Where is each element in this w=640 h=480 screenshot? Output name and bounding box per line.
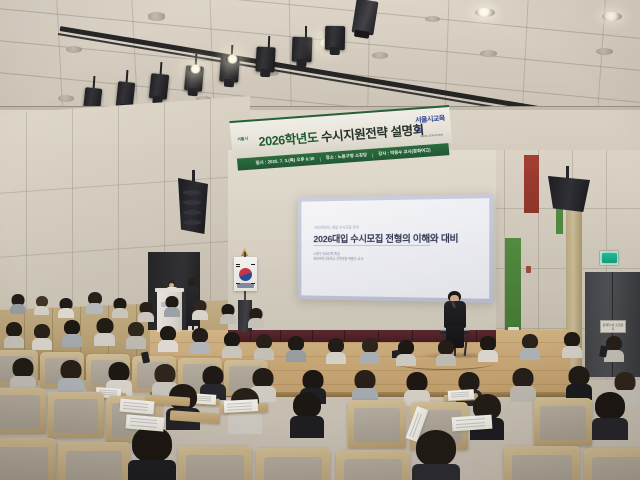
audience-person: [126, 322, 146, 349]
auditorium-photo: 관계자 외 출입금지 서울시 2026학년도 수시지원전략 설명회 서울시교육청…: [0, 0, 640, 480]
taegeuk-symbol: [239, 268, 252, 281]
slide-title: 2026대입 수시모집 전형의 이해와 대비: [313, 231, 458, 246]
ceiling-downlight: [66, 46, 82, 53]
ceiling-downlight: [58, 95, 74, 102]
slide-body-line: 창화여자고등학교 진학부장 박용수 교사: [313, 257, 363, 262]
ceiling-downlight: [475, 8, 495, 17]
pa-speaker-left: [178, 178, 208, 234]
audience-person: [94, 318, 115, 346]
audience-person: [164, 296, 180, 317]
banner-logo: 서울시교육청 SEOUL EDUCATION: [415, 114, 447, 136]
audience-person: [192, 300, 208, 320]
audience-person: [58, 360, 84, 394]
auditorium-seat[interactable]: [584, 448, 640, 480]
wall-accent-green-small: [556, 206, 563, 234]
banner-separator: |: [319, 156, 321, 161]
audience-person: [396, 340, 416, 366]
smartphone[interactable]: [141, 351, 150, 363]
slide-divider: [313, 245, 430, 246]
auditorium-seat[interactable]: [58, 442, 130, 480]
audience-person: [566, 366, 592, 400]
audience-person: [286, 336, 306, 362]
auditorium-seat[interactable]: [48, 392, 104, 438]
audience-person: [10, 358, 36, 392]
audience-person: [86, 292, 103, 314]
auditorium-seat[interactable]: [504, 446, 580, 480]
audience-person: [254, 334, 274, 360]
audience-person: [404, 372, 430, 406]
audience-person: [592, 392, 628, 440]
audience-person: [412, 430, 460, 480]
emergency-exit-sign: [599, 250, 619, 266]
banner-title: 2026학년도 수시지원전략 설명회: [258, 118, 425, 149]
auditorium-seat[interactable]: [0, 388, 46, 434]
audience-person: [158, 326, 178, 352]
banner-logo-sub: SEOUL EDUCATION: [420, 133, 443, 138]
ceiling-downlight: [480, 50, 497, 57]
banner-subinfo-date: 일시 : 2025. 7. 3.(목) 오후 6:30: [255, 156, 314, 166]
audience-person: [128, 426, 176, 480]
pa-speaker-right: [548, 176, 590, 212]
slide-body: 노원구 진로진학 특강 창화여자고등학교 진학부장 박용수 교사: [313, 252, 363, 262]
auditorium-seat[interactable]: [348, 400, 406, 448]
projector-lens: [354, 30, 370, 39]
handout-paper: [452, 415, 493, 432]
audience-person: [112, 298, 128, 318]
audience-seating: [0, 288, 640, 480]
audience-person: [34, 296, 49, 315]
ceiling-downlight: [425, 16, 440, 22]
audience-person: [436, 340, 456, 366]
audience-person: [58, 298, 74, 318]
audience-person: [562, 332, 582, 358]
banner-subinfo-place: 장소 : 노원구청 소강당: [325, 152, 367, 161]
banner-logo-mark: 서울시교육청: [415, 113, 447, 135]
wall-accent-red-panel: [524, 155, 539, 213]
ceiling-downlight: [148, 14, 165, 21]
auditorium-seat[interactable]: [256, 448, 330, 480]
audience-person: [352, 370, 378, 404]
auditorium-seat[interactable]: [534, 398, 592, 446]
stage-spotlight: [325, 26, 345, 50]
audience-person: [4, 322, 24, 348]
ceiling-downlight: [596, 48, 613, 55]
projection-screen: 2026학년도 대입 수시모집 안내 2026대입 수시모집 전형의 이해와 대…: [298, 194, 494, 303]
exit-icon: [602, 253, 617, 263]
audience-person: [360, 338, 380, 364]
audience-person: [510, 368, 536, 402]
banner-pre-label: 서울시: [237, 136, 249, 143]
audience-person: [62, 320, 82, 347]
audience-person: [248, 308, 264, 328]
audience-person: [32, 324, 52, 350]
auditorium-seat[interactable]: [178, 446, 252, 480]
audience-person: [478, 336, 498, 362]
stage-spotlight: [116, 81, 136, 108]
stage-spotlight: [255, 47, 275, 73]
ceiling-downlight: [372, 52, 388, 59]
auditorium-seat[interactable]: [0, 438, 56, 480]
audience-person: [222, 332, 242, 358]
audience-person: [166, 384, 200, 430]
wall-switch[interactable]: [526, 266, 531, 273]
ceiling-projector: [351, 0, 378, 36]
audience-person: [290, 392, 324, 438]
auditorium-seat[interactable]: [336, 450, 410, 480]
audience-person: [10, 294, 26, 314]
slide-kicker: 2026학년도 대입 수시모집 안내: [314, 224, 359, 229]
korean-national-flag: [234, 257, 257, 291]
audience-person: [326, 338, 346, 364]
stage-spotlight: [149, 73, 170, 100]
stage-spotlight: [292, 37, 313, 63]
ceiling-downlight: [602, 12, 622, 21]
banner-subinfo-speaker: 강사 : 박용수 교사(창화여고): [378, 147, 431, 157]
audience-person: [520, 334, 540, 360]
banner-title-main: 수시지원전략: [320, 125, 388, 144]
handout-paper: [224, 399, 259, 413]
audience-person: [220, 304, 236, 324]
audience-person: [138, 302, 154, 322]
banner-title-year: 2026학년도: [258, 130, 319, 148]
slide-surface: 2026학년도 대입 수시모집 안내 2026대입 수시모집 전형의 이해와 대…: [301, 198, 489, 299]
banner-separator: |: [372, 152, 374, 157]
audience-person: [190, 328, 210, 354]
